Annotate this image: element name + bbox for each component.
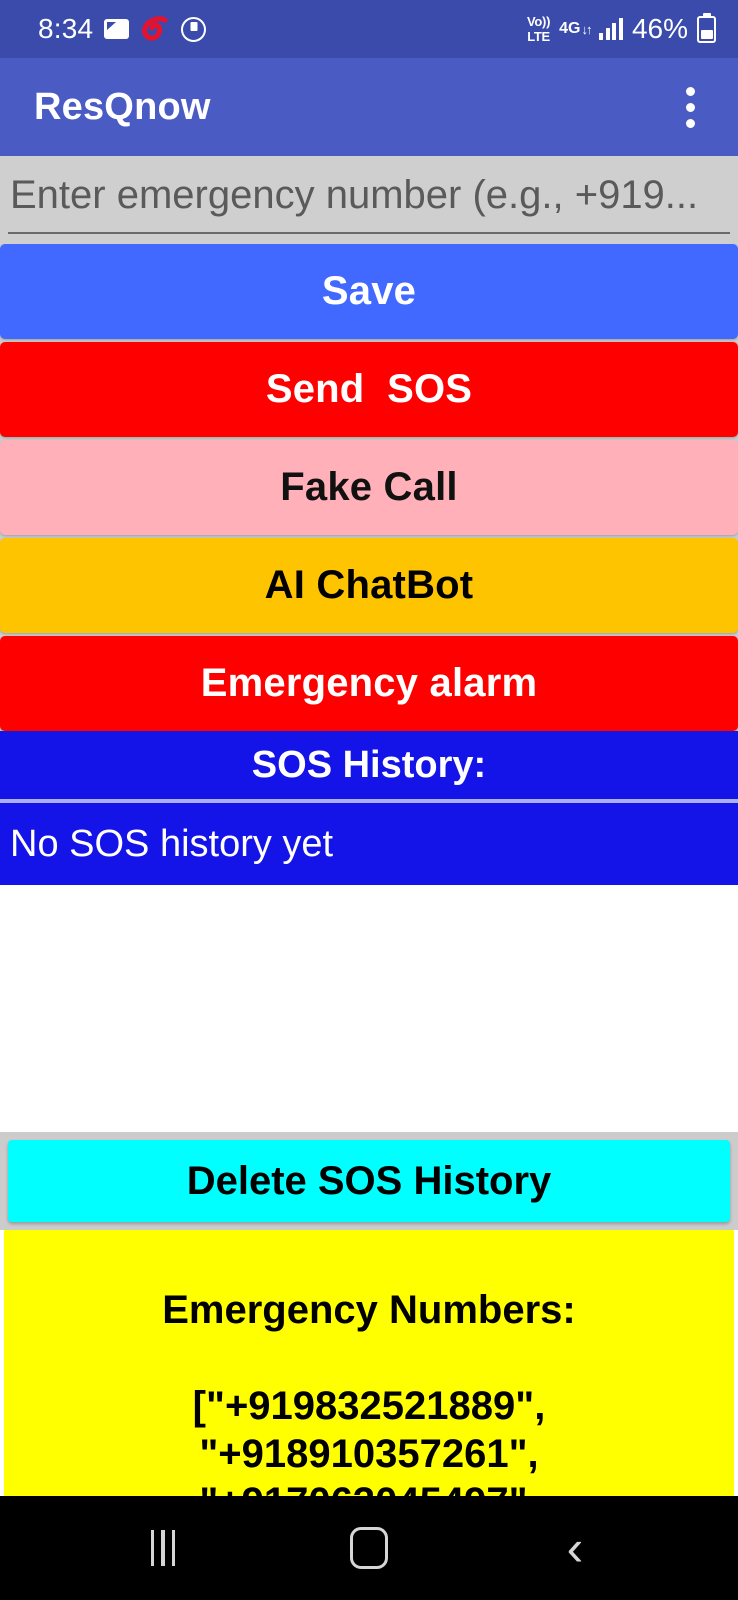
status-bar: 8:34 Vo)) LTE 4G ↓↑ 46% <box>0 0 738 58</box>
app-bar: ResQnow <box>0 58 738 156</box>
home-icon[interactable] <box>324 1513 414 1583</box>
emergency-alarm-button[interactable]: Emergency alarm <box>0 636 738 731</box>
ai-chatbot-button[interactable]: AI ChatBot <box>0 538 738 633</box>
back-icon[interactable]: ‹ <box>530 1513 620 1583</box>
status-bar-left: 8:34 <box>38 13 206 45</box>
network-type-icon: 4G ↓↑ <box>559 21 590 37</box>
app-circle-icon <box>181 17 206 42</box>
sos-history-heading: SOS History: <box>0 731 738 803</box>
airtel-logo-icon <box>140 15 170 43</box>
app-title: ResQnow <box>34 86 211 129</box>
recents-icon[interactable] <box>118 1513 208 1583</box>
overflow-dot <box>686 119 695 128</box>
battery-percent: 46% <box>632 13 688 45</box>
send-sos-button[interactable]: Send SOS <box>0 342 738 437</box>
system-navigation-bar: ‹ <box>0 1496 738 1600</box>
emergency-numbers-title: Emergency Numbers: <box>4 1286 734 1334</box>
overflow-dot <box>686 103 695 112</box>
emergency-numbers-list: ["+919832521889", "+918910357261", "+917… <box>4 1382 734 1496</box>
action-button-stack: Save Send SOS Fake Call AI ChatBot Emerg… <box>0 244 738 731</box>
delete-sos-history-button[interactable]: Delete SOS History <box>8 1140 730 1222</box>
status-clock: 8:34 <box>38 13 93 45</box>
fake-call-button[interactable]: Fake Call <box>0 440 738 535</box>
overflow-dot <box>686 87 695 96</box>
emergency-number-input[interactable] <box>6 156 732 244</box>
overflow-menu-icon[interactable] <box>668 81 712 133</box>
status-bar-right: Vo)) LTE 4G ↓↑ 46% <box>527 13 716 45</box>
battery-icon <box>697 16 716 43</box>
phone-screen: 8:34 Vo)) LTE 4G ↓↑ 46% <box>0 0 738 1600</box>
content-spacer <box>0 885 738 1132</box>
emergency-number-field-wrap[interactable] <box>0 156 738 244</box>
wallet-card-icon <box>104 19 129 39</box>
input-underline <box>8 232 730 234</box>
save-button[interactable]: Save <box>0 244 738 339</box>
delete-button-wrap: Delete SOS History <box>0 1132 738 1230</box>
volte-icon: Vo)) LTE <box>527 14 550 44</box>
sos-history-empty-text: No SOS history yet <box>0 803 738 885</box>
signal-bars-icon <box>599 18 623 40</box>
emergency-numbers-panel: Emergency Numbers: ["+919832521889", "+9… <box>4 1230 734 1496</box>
